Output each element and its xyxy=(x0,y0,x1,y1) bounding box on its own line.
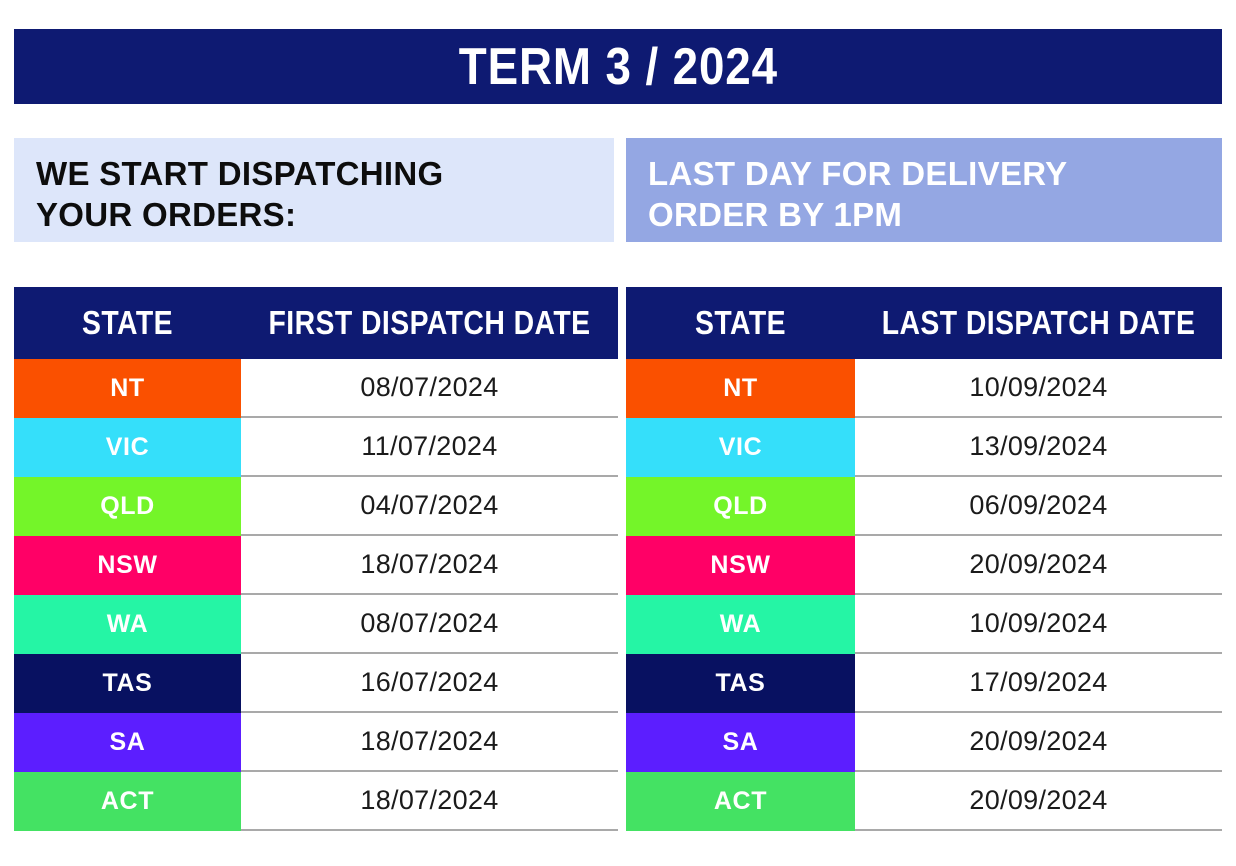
state-cell: SA xyxy=(14,713,241,772)
date-cell: 18/07/2024 xyxy=(241,536,618,595)
date-cell: 20/09/2024 xyxy=(855,713,1222,772)
state-cell: NT xyxy=(626,359,855,418)
subtitle-left-line2: YOUR ORDERS: xyxy=(36,195,592,236)
table-row: VIC13/09/2024 xyxy=(626,418,1222,477)
state-cell: VIC xyxy=(626,418,855,477)
table-row: NT08/07/2024 xyxy=(14,359,618,418)
date-cell: 08/07/2024 xyxy=(241,595,618,654)
table-header-row: STATE FIRST DISPATCH DATE xyxy=(14,287,618,359)
date-cell: 13/09/2024 xyxy=(855,418,1222,477)
subtitle-right-line1: LAST DAY FOR DELIVERY xyxy=(648,154,1200,195)
date-cell: 20/09/2024 xyxy=(855,536,1222,595)
column-header-state: STATE xyxy=(642,287,839,359)
state-cell: WA xyxy=(14,595,241,654)
table-row: NT10/09/2024 xyxy=(626,359,1222,418)
table-row: NSW18/07/2024 xyxy=(14,536,618,595)
date-cell: 06/09/2024 xyxy=(855,477,1222,536)
dispatch-schedule-page: TERM 3 / 2024 WE START DISPATCHING YOUR … xyxy=(0,0,1236,866)
state-cell: WA xyxy=(626,595,855,654)
date-cell: 18/07/2024 xyxy=(241,713,618,772)
date-cell: 08/07/2024 xyxy=(241,359,618,418)
state-cell: ACT xyxy=(626,772,855,831)
date-cell: 11/07/2024 xyxy=(241,418,618,477)
first-dispatch-table: STATE FIRST DISPATCH DATE NT08/07/2024VI… xyxy=(14,287,618,831)
state-cell: TAS xyxy=(626,654,855,713)
table-row: WA08/07/2024 xyxy=(14,595,618,654)
state-cell: QLD xyxy=(14,477,241,536)
table-body-left: NT08/07/2024VIC11/07/2024QLD04/07/2024NS… xyxy=(14,359,618,831)
title-banner: TERM 3 / 2024 xyxy=(14,29,1222,104)
last-dispatch-table: STATE LAST DISPATCH DATE NT10/09/2024VIC… xyxy=(626,287,1222,831)
date-cell: 18/07/2024 xyxy=(241,772,618,831)
table-row: VIC11/07/2024 xyxy=(14,418,618,477)
table-row: QLD06/09/2024 xyxy=(626,477,1222,536)
subtitle-right-line2: ORDER BY 1PM xyxy=(648,195,1200,236)
column-header-first-dispatch-date: FIRST DISPATCH DATE xyxy=(267,287,591,359)
date-cell: 10/09/2024 xyxy=(855,595,1222,654)
state-cell: NT xyxy=(14,359,241,418)
date-cell: 16/07/2024 xyxy=(241,654,618,713)
state-cell: VIC xyxy=(14,418,241,477)
table-row: ACT18/07/2024 xyxy=(14,772,618,831)
state-cell: QLD xyxy=(626,477,855,536)
state-cell: ACT xyxy=(14,772,241,831)
subtitle-left-line1: WE START DISPATCHING xyxy=(36,154,592,195)
state-cell: NSW xyxy=(626,536,855,595)
date-cell: 20/09/2024 xyxy=(855,772,1222,831)
table-row: SA20/09/2024 xyxy=(626,713,1222,772)
subtitle-first-dispatch: WE START DISPATCHING YOUR ORDERS: xyxy=(14,138,614,242)
table-row: NSW20/09/2024 xyxy=(626,536,1222,595)
subtitle-last-delivery: LAST DAY FOR DELIVERY ORDER BY 1PM xyxy=(626,138,1222,242)
table-row: SA18/07/2024 xyxy=(14,713,618,772)
table-row: TAS16/07/2024 xyxy=(14,654,618,713)
date-cell: 10/09/2024 xyxy=(855,359,1222,418)
table-body-right: NT10/09/2024VIC13/09/2024QLD06/09/2024NS… xyxy=(626,359,1222,831)
column-header-state: STATE xyxy=(30,287,225,359)
table-header-row: STATE LAST DISPATCH DATE xyxy=(626,287,1222,359)
state-cell: SA xyxy=(626,713,855,772)
table-row: TAS17/09/2024 xyxy=(626,654,1222,713)
column-header-last-dispatch-date: LAST DISPATCH DATE xyxy=(881,287,1197,359)
table-row: ACT20/09/2024 xyxy=(626,772,1222,831)
state-cell: TAS xyxy=(14,654,241,713)
state-cell: NSW xyxy=(14,536,241,595)
table-row: WA10/09/2024 xyxy=(626,595,1222,654)
date-cell: 17/09/2024 xyxy=(855,654,1222,713)
page-title: TERM 3 / 2024 xyxy=(458,41,777,93)
table-row: QLD04/07/2024 xyxy=(14,477,618,536)
date-cell: 04/07/2024 xyxy=(241,477,618,536)
